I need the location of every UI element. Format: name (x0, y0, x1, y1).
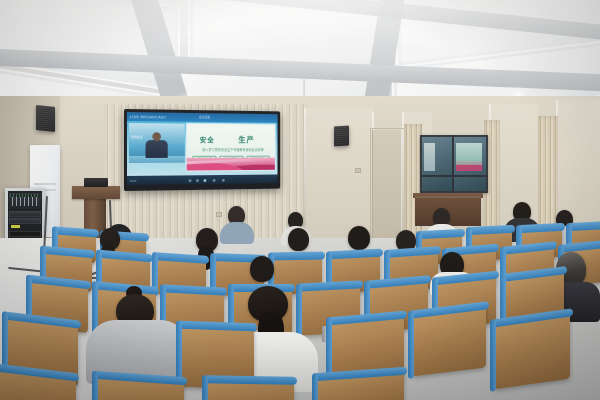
presentation-screen[interactable]: LIVE BROADCAST 会议直播 现场报道 安全 生产 深入学习贯彻安全生… (124, 109, 280, 191)
rack-processor[interactable] (9, 218, 41, 224)
window-mullion (452, 135, 454, 193)
video-speaker-head (152, 132, 161, 141)
broadcast-timestamp: 00:00 (130, 180, 136, 183)
broadcast-title-text: 会议直播 (199, 115, 210, 119)
player-control-dot[interactable] (213, 178, 216, 181)
podium-desktop (72, 186, 120, 199)
curtain-far-right (538, 116, 558, 236)
player-control-dot[interactable] (196, 179, 199, 182)
presentation-slide: 安全 生产 深入学习贯彻安全生产专题教育培训会议精神 落实安全责任 强化风险管控… (187, 124, 275, 171)
auditorium-seat[interactable] (96, 375, 184, 400)
screen-content: LIVE BROADCAST 会议直播 现场报道 安全 生产 深入学习贯彻安全生… (127, 112, 278, 185)
speaker-video-feed: 现场报道 (129, 123, 185, 163)
person-head (288, 228, 309, 251)
broadcast-bottombar: 00:00 (127, 174, 278, 184)
rack-led-strip (10, 194, 40, 197)
window-light-panel (424, 143, 435, 171)
person-head (250, 256, 274, 282)
auditorium-seat[interactable] (0, 367, 76, 400)
auditorium-seat[interactable] (494, 313, 570, 390)
player-control-dot[interactable] (222, 178, 225, 181)
player-play-button[interactable] (204, 179, 207, 182)
door[interactable] (372, 130, 402, 242)
auditorium-seat[interactable] (316, 371, 404, 400)
auditorium-seat[interactable] (206, 379, 294, 400)
broadcast-logo-text: LIVE BROADCAST (130, 114, 166, 119)
slide-heading-left: 安全 (200, 135, 215, 145)
window-mullion (420, 175, 488, 177)
slide-wave-graphic (187, 158, 275, 171)
side-window (420, 135, 488, 193)
person-shoulders (220, 222, 254, 244)
video-speaker-body (146, 140, 168, 158)
wall-outlet[interactable] (216, 212, 222, 217)
podium-monitor (84, 178, 108, 187)
player-control-dot[interactable] (189, 179, 192, 182)
rack-label (11, 225, 20, 228)
wall-speaker-right (334, 126, 349, 147)
wall-speaker-left (36, 105, 55, 132)
video-caption: 现场报道 (131, 135, 147, 139)
rack-blank-panel (9, 231, 41, 237)
slide-heading-right: 生产 (238, 135, 254, 146)
auditorium-seat[interactable] (412, 305, 486, 376)
window-screen-reflection (456, 143, 482, 171)
person-head (348, 226, 370, 250)
wall-outlet[interactable] (355, 168, 361, 173)
rack-amplifier[interactable] (9, 211, 41, 217)
conference-hall-photograph: LIVE BROADCAST 会议直播 现场报道 安全 生产 深入学习贯彻安全生… (0, 0, 600, 400)
slide-subtitle: 深入学习贯彻安全生产专题教育培训会议精神 (196, 147, 270, 152)
